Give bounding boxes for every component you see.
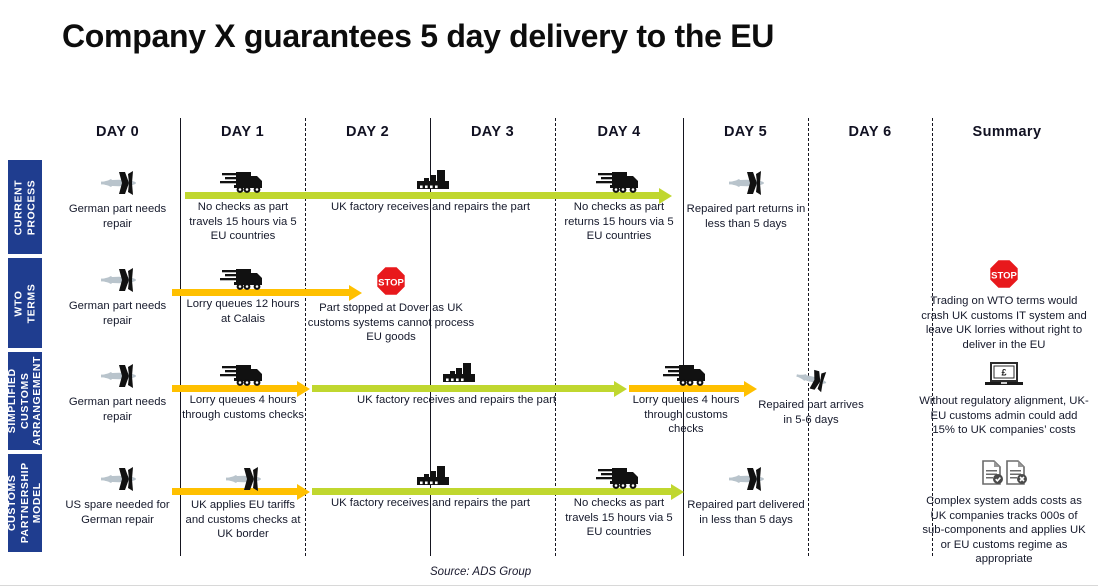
- stop-sign-icon: STOP: [375, 265, 407, 297]
- airplane-icon: [788, 360, 834, 399]
- caption: US spare needed for German repair: [55, 498, 180, 527]
- truck-icon: [663, 361, 709, 389]
- cell-r4-day5: Repaired part delivered in less than 5 d…: [685, 464, 807, 527]
- caption: UK applies EU tariffs and customs checks…: [182, 498, 304, 542]
- airplane-icon: [220, 464, 266, 494]
- row-tab-current-process[interactable]: CURRENTPROCESS: [8, 160, 42, 254]
- caption: Lorry queues 4 hours through customs che…: [627, 393, 745, 437]
- cell-r2-day2: STOP Part stopped at Dover as UK customs…: [307, 265, 475, 345]
- row-tab-line1: WTO: [13, 283, 26, 323]
- column-header-day-1: DAY 1: [180, 124, 305, 140]
- documents-check-cross-icon: [975, 458, 1033, 490]
- footer-divider: [0, 585, 1098, 586]
- cell-r2-day0: German part needs repair: [55, 265, 180, 328]
- cell-r3-day2: UK factory receives and repairs the part: [333, 361, 580, 408]
- caption: Part stopped at Dover as UK customs syst…: [307, 301, 475, 345]
- column-header-summary: Summary: [932, 124, 1082, 140]
- airplane-icon: [723, 464, 769, 494]
- factory-icon: [434, 361, 480, 389]
- column-header-day-3: DAY 3: [430, 124, 555, 140]
- svg-text:£: £: [1001, 368, 1006, 378]
- cell-r4-day1: UK applies EU tariffs and customs checks…: [182, 464, 304, 542]
- caption: UK factory receives and repairs the part: [307, 200, 554, 215]
- airplane-icon: [95, 361, 141, 391]
- caption: Trading on WTO terms would crash UK cust…: [918, 294, 1090, 352]
- column-header-day-5: DAY 5: [683, 124, 808, 140]
- airplane-icon: [95, 265, 141, 295]
- truck-icon: [596, 464, 642, 492]
- cell-r3-day4: Lorry queues 4 hours through customs che…: [627, 361, 745, 437]
- caption: German part needs repair: [55, 395, 180, 424]
- cell-r4-day2: UK factory receives and repairs the part: [307, 464, 554, 511]
- row-tab-customs-partnership-model[interactable]: CUSTOMSPARTNERSHIPMODEL: [8, 454, 42, 552]
- caption: Complex system adds costs as UK companie…: [918, 494, 1090, 567]
- cell-r1-day0: German part needs repair: [55, 168, 180, 231]
- caption: Lorry queues 12 hours at Calais: [182, 297, 304, 326]
- column-header-day-2: DAY 2: [305, 124, 430, 140]
- caption: UK factory receives and repairs the part: [333, 393, 580, 408]
- row-tab-line2: PARTNERSHIP: [19, 462, 32, 543]
- row-tab-line1: CUSTOMS: [6, 462, 19, 543]
- truck-icon: [220, 265, 266, 293]
- page-title: Company X guarantees 5 day delivery to t…: [62, 18, 774, 55]
- stop-sign-icon: STOP: [988, 258, 1020, 290]
- caption: No checks as part travels 15 hours via 5…: [557, 496, 681, 540]
- truck-icon: [220, 168, 266, 196]
- caption: No checks as part travels 15 hours via 5…: [182, 200, 304, 244]
- cell-r4-day4: No checks as part travels 15 hours via 5…: [557, 464, 681, 540]
- airplane-icon: [95, 464, 141, 494]
- airplane-icon: [723, 168, 769, 198]
- caption: Lorry queues 4 hours through customs che…: [182, 393, 304, 422]
- cell-r3-summary: £ Without regulatory alignment, UK-EU cu…: [918, 360, 1090, 438]
- truck-icon: [220, 361, 266, 389]
- cell-r1-day2: UK factory receives and repairs the part: [307, 168, 554, 215]
- row-tab-line3: MODEL: [31, 462, 44, 543]
- cell-r1-day1: No checks as part travels 15 hours via 5…: [182, 168, 304, 244]
- caption: UK factory receives and repairs the part: [307, 496, 554, 511]
- column-header-day-0: DAY 0: [55, 124, 180, 140]
- row-tab-line1: CURRENT: [13, 179, 26, 235]
- row-tab-wto-terms[interactable]: WTOTERMS: [8, 258, 42, 348]
- svg-text:STOP: STOP: [378, 278, 404, 289]
- row-tab-line2: TERMS: [25, 283, 38, 323]
- row-tab-simplified-customs-arrangement[interactable]: SIMPLIFIEDCUSTOMSARRANGEMENT: [8, 352, 42, 450]
- cell-r2-summary: STOP Trading on WTO terms would crash UK…: [918, 258, 1090, 352]
- svg-text:STOP: STOP: [991, 271, 1017, 282]
- column-header-day-6: DAY 6: [808, 124, 932, 140]
- row-tab-line1: SIMPLIFIED: [6, 356, 19, 445]
- row-tab-line3: ARRANGEMENT: [31, 356, 44, 445]
- cell-r4-day0: US spare needed for German repair: [55, 464, 180, 527]
- truck-icon: [596, 168, 642, 196]
- cell-r1-day4: No checks as part returns 15 hours via 5…: [557, 168, 681, 244]
- cell-r3-day5: Repaired part arrives in 5-6 days: [757, 364, 865, 427]
- caption: Repaired part arrives in 5-6 days: [757, 398, 865, 427]
- caption: German part needs repair: [55, 299, 180, 328]
- caption: German part needs repair: [55, 202, 180, 231]
- caption: No checks as part returns 15 hours via 5…: [557, 200, 681, 244]
- cell-r3-day1: Lorry queues 4 hours through customs che…: [182, 361, 304, 422]
- column-divider-5: [808, 118, 809, 556]
- cell-r4-summary: Complex system adds costs as UK companie…: [918, 458, 1090, 567]
- caption: Repaired part delivered in less than 5 d…: [685, 498, 807, 527]
- airplane-icon: [95, 168, 141, 198]
- caption: Without regulatory alignment, UK-EU cust…: [918, 394, 1090, 438]
- row-tab-line2: CUSTOMS: [19, 356, 32, 445]
- cell-r1-day5: Repaired part returns in less than 5 day…: [685, 168, 807, 231]
- source-note: Source: ADS Group: [430, 566, 531, 578]
- column-header-day-4: DAY 4: [555, 124, 683, 140]
- factory-icon: [408, 168, 454, 196]
- cell-r2-day1: Lorry queues 12 hours at Calais: [182, 265, 304, 326]
- row-tab-line2: PROCESS: [25, 179, 38, 235]
- caption: Repaired part returns in less than 5 day…: [685, 202, 807, 231]
- factory-icon: [408, 464, 454, 492]
- laptop-pound-icon: £: [980, 360, 1028, 390]
- cell-r3-day0: German part needs repair: [55, 361, 180, 424]
